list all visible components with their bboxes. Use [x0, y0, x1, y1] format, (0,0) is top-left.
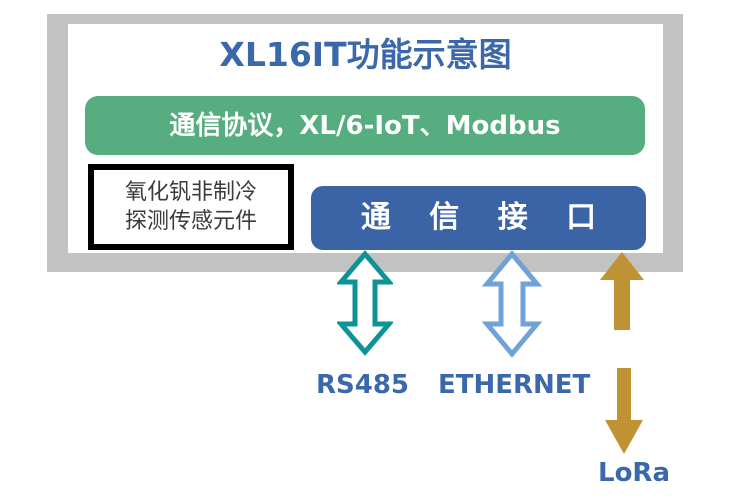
- sensor-element-box: 氧化钒非制冷 探测传感元件: [88, 164, 294, 250]
- lora-down-arrow-icon: [603, 366, 645, 456]
- sensor-element-line-1: 氧化钒非制冷: [125, 178, 257, 207]
- sensor-element-line-2: 探测传感元件: [125, 207, 257, 236]
- protocol-banner: 通信协议，XL/6-IoT、Modbus: [85, 96, 645, 155]
- lora-label: LoRa: [598, 458, 670, 488]
- lora-up-arrow-icon: [597, 250, 647, 332]
- page-title: XL16IT功能示意图: [68, 34, 663, 76]
- communication-interface-label: 通 信 接 口: [347, 201, 610, 235]
- ethernet-label: ETHERNET: [438, 370, 590, 400]
- communication-interface-box: 通 信 接 口: [311, 186, 646, 250]
- ethernet-double-arrow-icon: [482, 250, 542, 358]
- diagram-canvas: XL16IT功能示意图 通信协议，XL/6-IoT、Modbus 氧化钒非制冷 …: [0, 0, 750, 500]
- rs485-double-arrow-icon: [337, 250, 393, 356]
- protocol-banner-label: 通信协议，XL/6-IoT、Modbus: [169, 111, 560, 141]
- rs485-label: RS485: [316, 370, 409, 400]
